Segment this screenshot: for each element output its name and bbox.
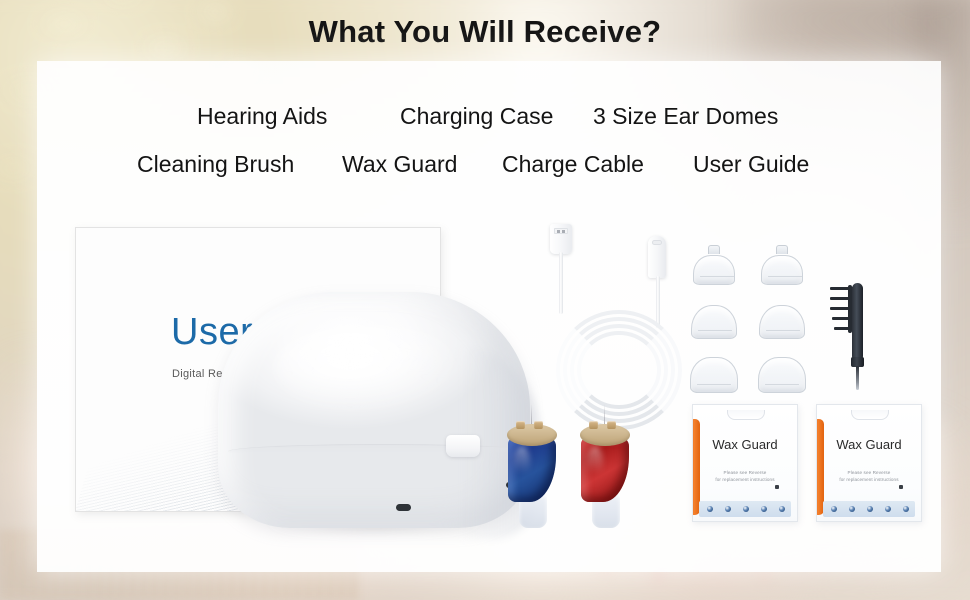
infographic-stage: What You Will Receive? Hearing Aids Char… xyxy=(0,0,970,600)
ear-dome-stem xyxy=(776,245,788,254)
charging-case-highlight xyxy=(274,322,464,414)
wax-guard-filter xyxy=(743,506,749,512)
packet-filter-band xyxy=(823,501,915,517)
cable-lead xyxy=(559,252,563,314)
packet-instructions: Please see Reverse for replacement instr… xyxy=(817,469,921,483)
label-charging-case: Charging Case xyxy=(400,103,553,130)
cleaning-brush xyxy=(828,277,874,393)
charging-case xyxy=(210,272,540,557)
ear-dome-stem xyxy=(708,245,720,254)
ear-dome-medium xyxy=(690,299,736,339)
wax-guard-filter xyxy=(867,506,873,512)
wax-guard-packet: Wax Guard Please see Reverse for replace… xyxy=(816,404,922,522)
packet-filter-band xyxy=(699,501,791,517)
item-label-row-2: Cleaning Brush Wax Guard Charge Cable Us… xyxy=(37,151,941,181)
wax-guard-filter xyxy=(761,506,767,512)
hearing-aid-contact xyxy=(534,421,543,429)
packet-hang-hole xyxy=(851,410,889,420)
hearing-aid-gloss xyxy=(514,446,530,480)
charging-case-indicator xyxy=(396,504,411,511)
cable-lead xyxy=(656,276,660,328)
packet-hang-hole xyxy=(727,410,765,420)
charge-cable xyxy=(520,218,710,443)
ear-dome-small xyxy=(758,245,804,285)
label-charge-cable: Charge Cable xyxy=(502,151,644,178)
packet-title: Wax Guard xyxy=(817,437,921,452)
label-cleaning-brush: Cleaning Brush xyxy=(137,151,294,178)
ear-dome-body xyxy=(761,255,803,285)
packet-title: Wax Guard xyxy=(693,437,797,452)
hearing-aid-faceplate xyxy=(580,424,630,446)
hearing-aid-pull-wire xyxy=(531,404,532,426)
hearing-aid-contact xyxy=(516,421,525,429)
usb-c-connector xyxy=(648,236,666,278)
ear-dome-large xyxy=(758,353,804,393)
wax-guard-filter xyxy=(885,506,891,512)
label-user-guide: User Guide xyxy=(693,151,809,178)
usb-a-slot xyxy=(554,228,568,234)
brush-handle xyxy=(852,283,863,359)
wax-guard-filter xyxy=(725,506,731,512)
ear-dome-body xyxy=(759,305,805,339)
packet-mark xyxy=(899,485,903,489)
hearing-aid-contact xyxy=(607,421,616,429)
packet-instructions: Please see Reverse for replacement instr… xyxy=(693,469,797,483)
charging-case-lid-seam xyxy=(228,444,536,459)
wax-guard-filter xyxy=(849,506,855,512)
ear-dome-body xyxy=(691,305,737,339)
wax-guard-filter xyxy=(903,506,909,512)
usb-a-contact xyxy=(562,230,565,233)
wax-guard-filter xyxy=(779,506,785,512)
hearing-aid-left xyxy=(505,424,559,532)
page-title: What You Will Receive? xyxy=(0,12,970,52)
ear-dome-body xyxy=(758,357,806,393)
hearing-aid-right xyxy=(578,424,632,532)
usb-a-connector xyxy=(550,224,572,254)
ear-dome-medium xyxy=(758,299,804,339)
usb-a-contact xyxy=(557,230,560,233)
label-ear-domes: 3 Size Ear Domes xyxy=(593,103,778,130)
packet-mark xyxy=(775,485,779,489)
hearing-aid-contact xyxy=(589,421,598,429)
label-hearing-aids: Hearing Aids xyxy=(197,103,327,130)
ear-domes-grid xyxy=(690,245,806,393)
hearing-aid-faceplate xyxy=(507,424,557,446)
cable-coil xyxy=(577,331,661,409)
hearing-aid-pull-wire xyxy=(604,404,605,426)
ear-dome-body xyxy=(693,255,735,285)
brush-wire-loop xyxy=(856,366,859,390)
charging-case-latch xyxy=(446,435,480,457)
ear-dome-large xyxy=(690,353,736,393)
ear-dome-small xyxy=(690,245,736,285)
wax-guard-filter xyxy=(707,506,713,512)
label-wax-guard: Wax Guard xyxy=(342,151,457,178)
ear-dome-body xyxy=(690,357,738,393)
hearing-aid-gloss xyxy=(587,446,603,480)
wax-guard-filter xyxy=(831,506,837,512)
item-label-row-1: Hearing Aids Charging Case 3 Size Ear Do… xyxy=(37,103,941,133)
wax-guard-packet: Wax Guard Please see Reverse for replace… xyxy=(692,404,798,522)
charging-case-body xyxy=(218,292,530,528)
